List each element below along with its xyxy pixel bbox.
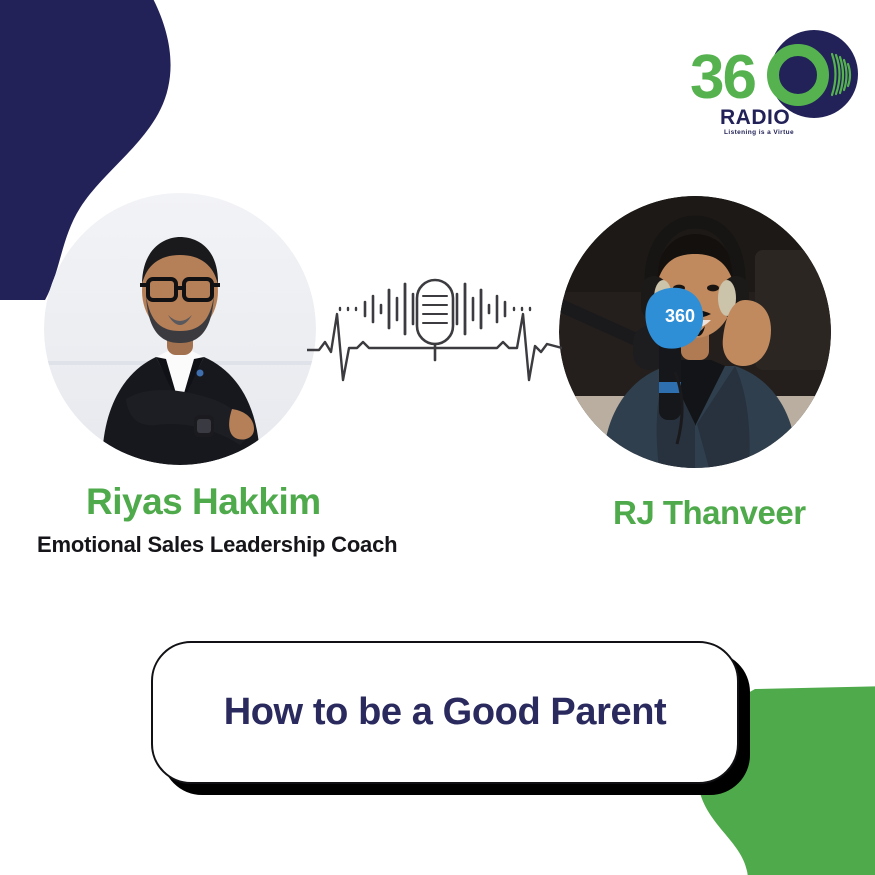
podcast-episode-poster: 36 RADIO Listening is a Virtue [0,0,875,875]
brand-logo: 36 RADIO Listening is a Virtue [686,28,858,138]
guest-photo-rj-thanveer: 360 [559,196,831,468]
guest-role-left: Emotional Sales Leadership Coach [37,532,397,558]
svg-text:36: 36 [690,43,755,112]
360-radio-logo-icon: 36 RADIO Listening is a Virtue [686,28,858,138]
episode-title-banner: How to be a Good Parent [151,641,739,784]
guest-photo-riyas-hakkim [44,193,316,465]
logo-tagline: Listening is a Virtue [724,129,794,136]
guest-name-right: RJ Thanveer [613,494,806,532]
guest-name-left: Riyas Hakkim [86,481,321,523]
logo-word: RADIO [720,106,790,129]
episode-title-text: How to be a Good Parent [224,691,667,734]
episode-title-box: How to be a Good Parent [151,641,739,784]
microphone-soundwave-ecg-icon [307,268,562,383]
svg-text:360: 360 [665,306,695,326]
